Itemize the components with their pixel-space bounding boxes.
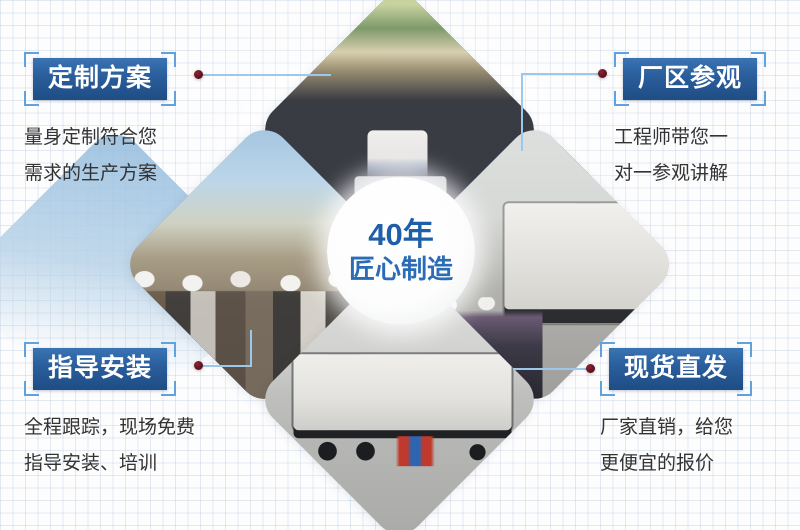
feature-badge-label: 厂区参观: [623, 58, 757, 100]
feature-factory-visit[interactable]: 厂区参观 工程师带您一 对一参观讲解: [614, 52, 800, 192]
connector-line: [513, 368, 591, 370]
connector-dot: [598, 69, 607, 78]
corner-bracket-icon: [600, 342, 615, 357]
corner-bracket-icon: [614, 52, 629, 67]
connector-dot: [586, 364, 595, 373]
connector-line-vertical: [250, 330, 252, 367]
feature-badge-label: 现货直发: [609, 348, 743, 390]
connector-line-horizontal: [521, 73, 601, 75]
corner-bracket-icon: [161, 52, 176, 67]
corner-bracket-icon: [737, 381, 752, 396]
connector-line-vertical: [521, 73, 523, 151]
feature-badge-label: 指导安装: [33, 348, 167, 390]
center-badge: 40年 匠心制造: [327, 177, 475, 325]
center-years: 40年: [368, 219, 433, 252]
feature-description: 工程师带您一 对一参观讲解: [614, 120, 800, 192]
corner-bracket-icon: [751, 91, 766, 106]
feature-badge-wrap: 厂区参观: [614, 52, 766, 106]
corner-bracket-icon: [614, 91, 629, 106]
feature-description: 量身定制符合您 需求的生产方案: [24, 120, 234, 192]
corner-bracket-icon: [600, 381, 615, 396]
corner-bracket-icon: [161, 91, 176, 106]
feature-custom-plan[interactable]: 定制方案 量身定制符合您 需求的生产方案: [24, 52, 234, 192]
feature-guided-installation[interactable]: 指导安装 全程跟踪，现场免费 指导安装、培训: [24, 342, 234, 482]
corner-bracket-icon: [24, 52, 39, 67]
feature-in-stock-direct-shipping[interactable]: 现货直发 厂家直销，给您 更便宜的报价: [600, 342, 800, 482]
feature-description: 全程跟踪，现场免费 指导安装、培训: [24, 410, 234, 482]
corner-bracket-icon: [24, 381, 39, 396]
feature-badge-wrap: 现货直发: [600, 342, 752, 396]
feature-description: 厂家直销，给您 更便宜的报价: [600, 410, 800, 482]
corner-bracket-icon: [24, 91, 39, 106]
promo-banner: 40年 匠心制造 定制方案 量身定制符合您 需求的生产方案: [0, 0, 800, 530]
feature-badge-wrap: 定制方案: [24, 52, 176, 106]
corner-bracket-icon: [161, 381, 176, 396]
corner-bracket-icon: [161, 342, 176, 357]
center-slogan: 匠心制造: [349, 256, 453, 283]
corner-bracket-icon: [24, 342, 39, 357]
feature-badge-wrap: 指导安装: [24, 342, 176, 396]
corner-bracket-icon: [751, 52, 766, 67]
corner-bracket-icon: [737, 342, 752, 357]
feature-badge-label: 定制方案: [33, 58, 167, 100]
